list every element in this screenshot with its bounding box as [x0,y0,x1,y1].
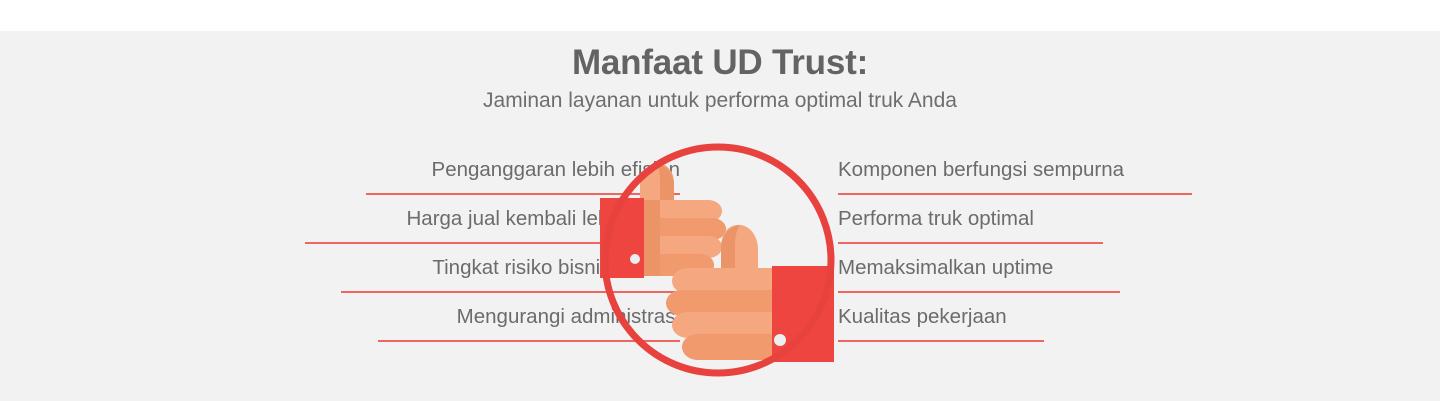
benefit-item-right-4: Kualitas pekerjaan [838,302,1358,351]
benefit-item-right-1: Komponen berfungsi sempurna [838,155,1358,204]
benefit-underline [838,242,1103,244]
thumb-up-hand-upper [600,164,726,278]
thumbs-up-icon [600,142,836,378]
benefits-column-right: Komponen berfungsi sempurna Performa tru… [838,155,1358,351]
benefit-label: Komponen berfungsi sempurna [838,155,1124,185]
infographic-banner: Manfaat UD Trust: Jaminan layanan untuk … [0,0,1440,401]
benefit-item-right-2: Performa truk optimal [838,204,1358,253]
benefit-item-right-3: Memaksimalkan uptime [838,253,1358,302]
benefit-underline [838,291,1120,293]
page-subtitle: Jaminan layanan untuk performa optimal t… [0,86,1440,116]
benefit-label: Memaksimalkan uptime [838,253,1053,283]
page-title: Manfaat UD Trust: [0,41,1440,85]
benefit-label: Kualitas pekerjaan [838,302,1007,332]
benefit-underline [838,193,1192,195]
heading-block: Manfaat UD Trust: Jaminan layanan untuk … [0,41,1440,116]
benefit-label: Performa truk optimal [838,204,1034,234]
benefit-underline [838,340,1044,342]
